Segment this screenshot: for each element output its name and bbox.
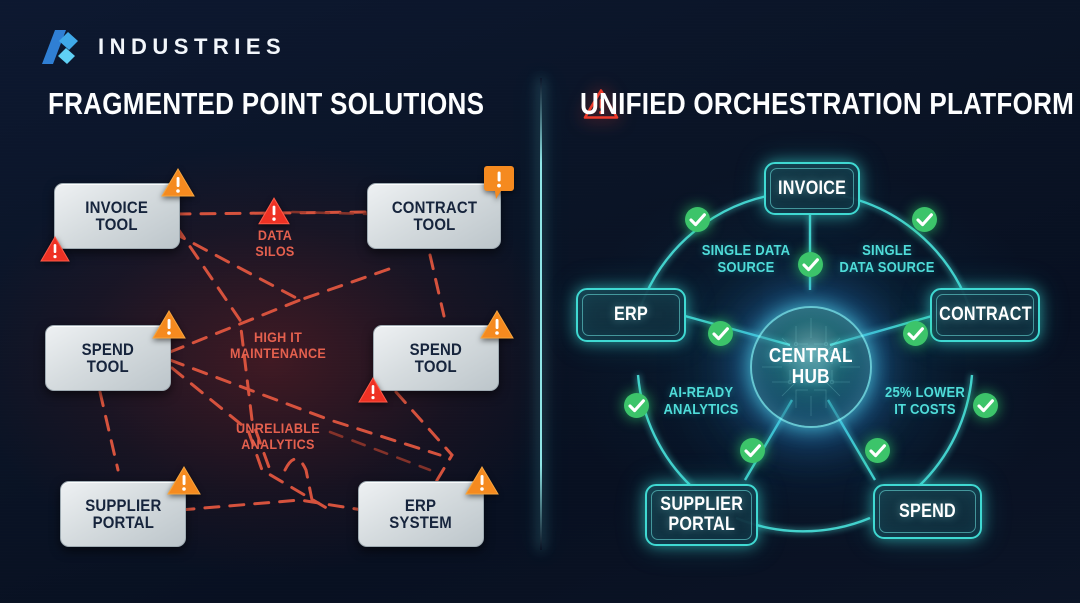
- check-circle-green-icon: [902, 320, 929, 347]
- check-circle-green-icon: [623, 392, 650, 419]
- node-contract[interactable]: CONTRACT: [930, 288, 1040, 342]
- node-label: INVOICE: [778, 179, 846, 199]
- node-invoice[interactable]: INVOICE: [764, 162, 860, 215]
- node-contract-tool[interactable]: CONTRACTTOOL: [367, 183, 501, 249]
- node-label: SUPPLIERPORTAL: [660, 495, 743, 535]
- node-label: SPENDTOOL: [410, 341, 462, 376]
- node-label: SPEND: [899, 502, 956, 522]
- warning-triangle-red-icon: [40, 236, 70, 263]
- warning-triangle-orange-icon: [480, 310, 514, 340]
- check-circle-green-icon: [864, 437, 891, 464]
- alert-square-orange-icon: [484, 166, 514, 200]
- node-supplier-portal[interactable]: SUPPLIERPORTAL: [645, 484, 758, 546]
- problem-label-unreliable-analytics: UNRELIABLEANALYTICS: [215, 421, 341, 452]
- problem-label-data-silos: DATASILOS: [227, 228, 322, 259]
- warning-triangle-orange-icon: [161, 168, 195, 198]
- node-spend-tool-right[interactable]: SPENDTOOL: [373, 325, 499, 391]
- node-label: INVOICETOOL: [86, 199, 149, 234]
- node-supplier-portal[interactable]: SUPPLIERPORTAL: [60, 481, 186, 547]
- problem-label-high-it-maintenance: HIGH ITMAINTENANCE: [215, 330, 341, 361]
- check-circle-green-icon: [911, 206, 938, 233]
- node-label: ERP: [614, 305, 648, 325]
- central-hub[interactable]: CENTRALHUB: [752, 308, 870, 426]
- warning-triangle-orange-icon: [152, 310, 186, 340]
- node-label: SUPPLIERPORTAL: [85, 497, 161, 532]
- check-circle-green-icon: [684, 206, 711, 233]
- node-label: SPENDTOOL: [82, 341, 134, 376]
- warning-triangle-orange-icon: [167, 466, 201, 496]
- infographic-canvas: INDUSTRIES FRAGMENTED POINT SOLUTIONS UN…: [0, 0, 1080, 603]
- fragmented-point-solutions-panel: INVOICETOOL CONTRACTTOOL: [0, 0, 540, 603]
- benefit-label-25-percent-lower-it-costs: 25% LOWERIT COSTS: [876, 385, 975, 418]
- check-circle-green-icon: [797, 251, 824, 278]
- unified-orchestration-panel: CENTRALHUB INVOICE ERP CONTRACT SUPPLIER…: [540, 0, 1080, 603]
- central-hub-label: CENTRALHUB: [769, 346, 853, 388]
- node-label: ERPSYSTEM: [390, 497, 453, 532]
- benefit-label-ai-ready-analytics: AI-READYANALYTICS: [652, 385, 751, 418]
- benefit-label-single-data-source-right: SINGLEDATA SOURCE: [834, 243, 940, 276]
- warning-triangle-red-icon: [258, 197, 290, 226]
- warning-triangle-orange-icon: [465, 466, 499, 496]
- node-spend-tool-left[interactable]: SPENDTOOL: [45, 325, 171, 391]
- node-invoice-tool[interactable]: INVOICETOOL: [54, 183, 180, 249]
- check-circle-green-icon: [972, 392, 999, 419]
- benefit-label-single-data-source-left: SINGLE DATASOURCE: [697, 243, 796, 276]
- node-spend[interactable]: SPEND: [873, 484, 982, 539]
- check-circle-green-icon: [707, 320, 734, 347]
- node-erp[interactable]: ERP: [576, 288, 686, 342]
- check-circle-green-icon: [739, 437, 766, 464]
- warning-triangle-red-icon: [358, 377, 388, 404]
- node-label: CONTRACTTOOL: [391, 199, 476, 234]
- node-erp-system[interactable]: ERPSYSTEM: [358, 481, 484, 547]
- node-label: CONTRACT: [939, 305, 1032, 325]
